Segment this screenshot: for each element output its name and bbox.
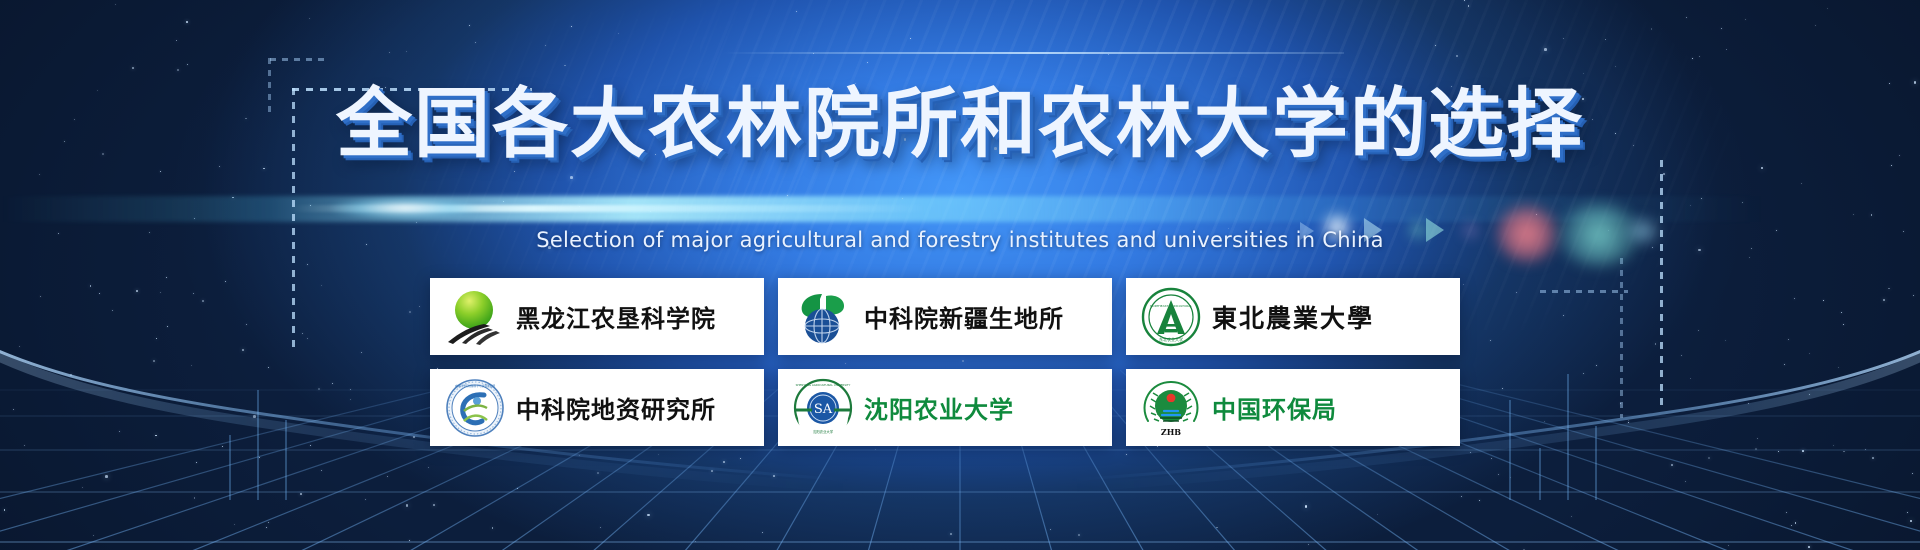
partner-logo-grid: 黑龙江农垦科学院 中科院: [430, 278, 1460, 446]
zhb-wreath-emblem-icon: ZHB: [1140, 377, 1202, 439]
logo-card-shenyang-agri-univ[interactable]: SA SHENYANG AGRICULTURAL UNIVERSITY 沈阳农业…: [778, 369, 1112, 446]
logo-name: 中国环保局: [1212, 390, 1337, 425]
logo-name: 東北農業大學: [1212, 299, 1374, 335]
logo-name: 中科院地资研究所: [516, 390, 716, 425]
svg-text:中国科学院地理科学与资源研究所: 中国科学院地理科学与资源研究所: [455, 384, 496, 388]
green-circular-seal-a-icon: NORTHEAST AGRICULTURAL 东北农业大学: [1140, 286, 1202, 348]
logo-row-1: 黑龙江农垦科学院 中科院: [430, 278, 1460, 355]
svg-text:东北农业大学: 东北农业大学: [1159, 336, 1183, 342]
center-light-hotspot: [330, 197, 480, 219]
logo-card-cas-igsnrr[interactable]: 中国科学院地理科学与资源研究所 中科院地资研究所: [430, 369, 764, 446]
blue-circular-seal-figure-icon: 中国科学院地理科学与资源研究所: [444, 377, 506, 439]
green-sphere-road-icon: [444, 286, 506, 348]
green-blue-seal-sa-icon: SA SHENYANG AGRICULTURAL UNIVERSITY 沈阳农业…: [792, 377, 854, 439]
logo-name: 中科院新疆生地所: [864, 299, 1064, 334]
svg-text:ZHB: ZHB: [1161, 427, 1181, 437]
svg-text:SA: SA: [814, 402, 833, 417]
logo-name: 黑龙江农垦科学院: [516, 299, 716, 334]
logo-card-cas-xinjiang[interactable]: 中科院新疆生地所: [778, 278, 1112, 355]
logo-card-heilongjiang[interactable]: 黑龙江农垦科学院: [430, 278, 764, 355]
logo-card-northeast-agri-univ[interactable]: NORTHEAST AGRICULTURAL 东北农业大学 東北農業大學: [1126, 278, 1460, 355]
logo-name: 沈阳农业大学: [864, 390, 1014, 425]
center-light-beam: [0, 196, 1920, 222]
logo-card-china-epb[interactable]: ZHB 中国环保局: [1126, 369, 1460, 446]
logo-row-2: 中国科学院地理科学与资源研究所 中科院地资研究所 SA SHENYAN: [430, 369, 1460, 446]
page-title: 全国各大农林院所和农林大学的选择: [336, 86, 1584, 162]
svg-text:SHENYANG AGRICULTURAL UNIVERSI: SHENYANG AGRICULTURAL UNIVERSITY: [796, 383, 851, 387]
title-top-divider: [724, 52, 1344, 54]
green-leaf-blue-globe-icon: [792, 286, 854, 348]
svg-text:NORTHEAST AGRICULTURAL: NORTHEAST AGRICULTURAL: [1150, 304, 1192, 308]
page-subtitle: Selection of major agricultural and fore…: [0, 228, 1920, 252]
title-block: 全国各大农林院所和农林大学的选择: [0, 86, 1920, 162]
hero-banner: 全国各大农林院所和农林大学的选择 Selection of major agri…: [0, 0, 1920, 550]
svg-text:沈阳农业大学: 沈阳农业大学: [813, 429, 834, 434]
